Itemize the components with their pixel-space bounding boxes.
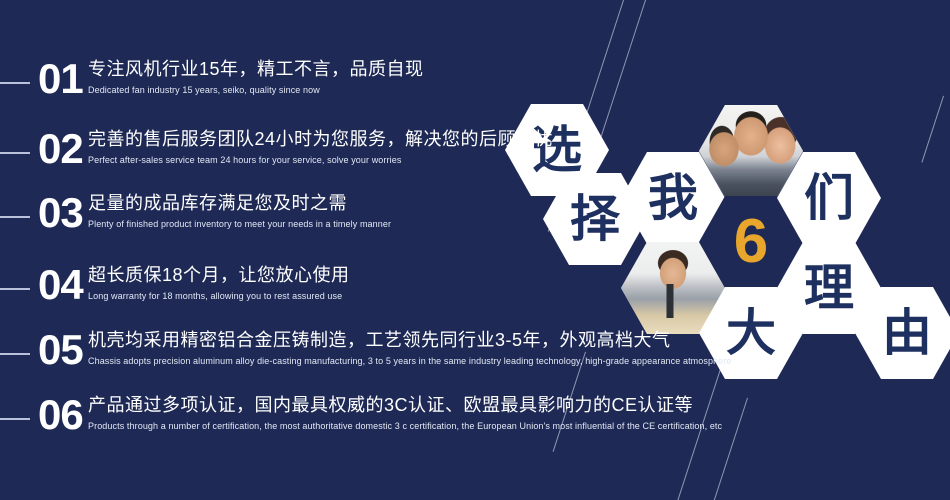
reason-text: 完善的售后服务团队24小时为您服务，解决您的后顾之忧 Perfect after… xyxy=(88,128,553,168)
row-dash xyxy=(0,418,30,420)
reason-text: 机壳均采用精密铝合金压铸制造，工艺领先同行业3-5年，外观高档大气 Chassi… xyxy=(88,329,732,369)
reason-text: 专注风机行业15年，精工不言，品质自现 Dedicated fan indust… xyxy=(88,58,424,98)
reason-text: 超长质保18个月，让您放心使用 Long warranty for 18 mon… xyxy=(88,264,350,304)
hex-glyph: 我 xyxy=(648,173,698,223)
decorative-diagonal-line xyxy=(921,96,944,163)
reason-title-cn: 完善的售后服务团队24小时为您服务，解决您的后顾之忧 xyxy=(88,129,553,149)
hex-glyph: 们 xyxy=(804,173,854,223)
reason-number: 04 xyxy=(38,264,83,306)
reason-title-en: Plenty of finished product inventory to … xyxy=(88,219,391,229)
reason-text: 产品通过多项认证，国内最具权威的3C认证、欧盟最具影响力的CE认证等 Produ… xyxy=(88,394,722,434)
reason-title-en: Perfect after-sales service team 24 hour… xyxy=(88,155,401,165)
reason-number: 01 xyxy=(38,58,83,100)
hex-glyph: 由 xyxy=(882,308,932,358)
row-dash xyxy=(0,288,30,290)
row-dash xyxy=(0,152,30,154)
hex-glyph: 大 xyxy=(726,308,776,358)
reason-title-en: Chassis adopts precision aluminum alloy … xyxy=(88,356,732,366)
hex-glyph-six: 6 xyxy=(734,211,768,273)
reason-title-en: Long warranty for 18 months, allowing yo… xyxy=(88,291,342,301)
reason-title-cn: 机壳均采用精密铝合金压铸制造，工艺领先同行业3-5年，外观高档大气 xyxy=(88,330,671,350)
reason-title-en: Products through a number of certificati… xyxy=(88,421,722,431)
banner-root: 选 择 我 6 大 们 理 由 01 专注风机行业15年，精工不言，品质自现 D… xyxy=(0,0,950,500)
reason-number: 06 xyxy=(38,394,83,436)
reason-number: 02 xyxy=(38,128,83,170)
hex-glyph: 理 xyxy=(804,263,854,313)
reason-number: 03 xyxy=(38,192,83,234)
row-dash xyxy=(0,353,30,355)
reason-title-cn: 足量的成品库存满足您及时之需 xyxy=(88,193,347,213)
reason-title-en: Dedicated fan industry 15 years, seiko, … xyxy=(88,85,320,95)
reason-title-cn: 超长质保18个月，让您放心使用 xyxy=(88,265,350,285)
row-dash xyxy=(0,216,30,218)
row-dash xyxy=(0,82,30,84)
reason-text: 足量的成品库存满足您及时之需 Plenty of finished produc… xyxy=(88,192,391,232)
reason-number: 05 xyxy=(38,329,83,371)
reason-title-cn: 产品通过多项认证，国内最具权威的3C认证、欧盟最具影响力的CE认证等 xyxy=(88,395,693,415)
reason-title-cn: 专注风机行业15年，精工不言，品质自现 xyxy=(88,59,424,79)
hex-glyph: 择 xyxy=(570,194,620,244)
